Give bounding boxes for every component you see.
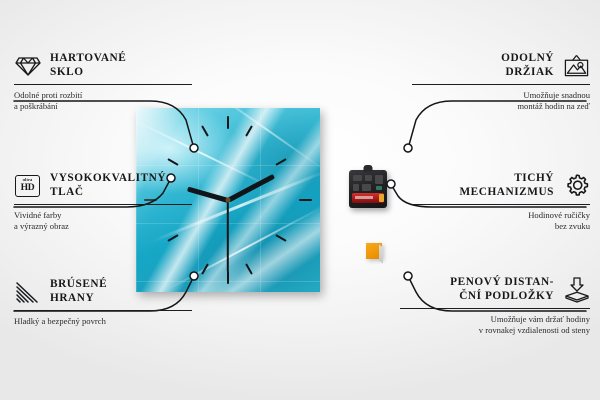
feature-header: ODOLNÝ DRŽIAK [412, 52, 590, 79]
clock-tick [167, 158, 178, 166]
feature-divider [14, 84, 192, 85]
picture-frame-hook-icon [563, 52, 590, 79]
feature-description: Odolné proti rozbití a poškrábání [14, 90, 192, 112]
feature-divider [14, 310, 192, 311]
clock-tick [227, 116, 229, 129]
clock-tick [227, 271, 229, 284]
mechanism-detail [376, 186, 382, 190]
clock-tick [167, 234, 178, 242]
feature-header: ultra HD VYSOKOKVALITNÝ TLAČ [14, 172, 192, 199]
hd-badge: ultra HD [15, 175, 40, 197]
feature-title: TICHÝ MECHANIZMUS [459, 172, 554, 199]
clock-tick [201, 263, 209, 274]
mechanism-detail [353, 184, 359, 191]
feature-description: Umožňuje snadnou montáž hodin na zeď [412, 90, 590, 112]
clock-tick [201, 125, 209, 136]
feature-title: HARTOVANÉ SKLO [50, 52, 126, 79]
feature-title: PENOVÝ DISTAN- ČNÍ PODLOŽKY [450, 276, 554, 303]
clock-hand-minute [227, 173, 275, 202]
feature-description: Hodinové ručičky bez zvuku [412, 210, 590, 232]
feature-header: PENOVÝ DISTAN- ČNÍ PODLOŽKY [400, 276, 590, 303]
infographic-stage: HARTOVANÉ SKLO Odolné proti rozbití a po… [0, 0, 600, 400]
clock-hand-hour [187, 186, 229, 202]
battery-positive-tip [379, 194, 384, 202]
clock-tick [299, 199, 312, 201]
connector-node-hanger [404, 144, 412, 152]
mechanism-shaft [364, 165, 373, 172]
connector-node-mechanism [387, 180, 395, 188]
clock-tick [275, 234, 286, 242]
feature-divider [412, 84, 590, 85]
feature-silent-mechanism: TICHÝ MECHANIZMUS Hodinové ručičky bez z… [412, 172, 590, 232]
mechanism-detail [365, 175, 372, 181]
mechanism-detail [353, 175, 362, 181]
diamond-icon [14, 52, 41, 79]
clock-tick [275, 158, 286, 166]
mechanism-battery [352, 193, 384, 203]
battery-label-stripe [355, 196, 373, 199]
feature-header: HARTOVANÉ SKLO [14, 52, 192, 79]
feature-high-quality-print: ultra HD VYSOKOKVALITNÝ TLAČ Vividné far… [14, 172, 192, 232]
feature-title: VYSOKOKVALITNÝ TLAČ [50, 172, 166, 199]
feature-description: Umožňuje vám držať hodiny v rovnakej vzd… [400, 314, 590, 336]
feature-hardened-glass: HARTOVANÉ SKLO Odolné proti rozbití a po… [14, 52, 192, 112]
hd-badge-hd-label: HD [21, 183, 35, 193]
feature-title: BRÚSENÉ HRANY [50, 278, 107, 305]
feature-divider [14, 204, 192, 205]
press-pad-icon [563, 276, 590, 303]
feature-title: ODOLNÝ DRŽIAK [501, 52, 554, 79]
feature-description: Hladký a bezpečný povrch [14, 316, 192, 327]
clock-tick [245, 263, 253, 274]
feature-header: BRÚSENÉ HRANY [14, 278, 192, 305]
feature-durable-hanger: ODOLNÝ DRŽIAK Umožňuje snadnou montáž ho… [412, 52, 590, 112]
feature-divider [400, 308, 590, 309]
foam-spacer-pad [366, 243, 382, 259]
clock-hand-second [227, 200, 229, 272]
ultra-hd-icon: ultra HD [14, 172, 41, 199]
mechanism-detail [362, 184, 371, 191]
feature-description: Vividné farby a výrazný obraz [14, 210, 192, 232]
clock-tick [245, 125, 253, 136]
clock-mechanism-photo [349, 170, 387, 208]
mechanism-detail [375, 175, 383, 184]
feature-header: TICHÝ MECHANIZMUS [412, 172, 590, 199]
gear-icon [563, 172, 590, 199]
feature-polished-edges: BRÚSENÉ HRANY Hladký a bezpečný povrch [14, 278, 192, 327]
clock-hand-cap [226, 198, 231, 203]
feature-foam-spacers: PENOVÝ DISTAN- ČNÍ PODLOŽKY Umožňuje vám… [400, 276, 590, 336]
feature-divider [412, 204, 590, 205]
polished-edge-icon [14, 278, 41, 305]
